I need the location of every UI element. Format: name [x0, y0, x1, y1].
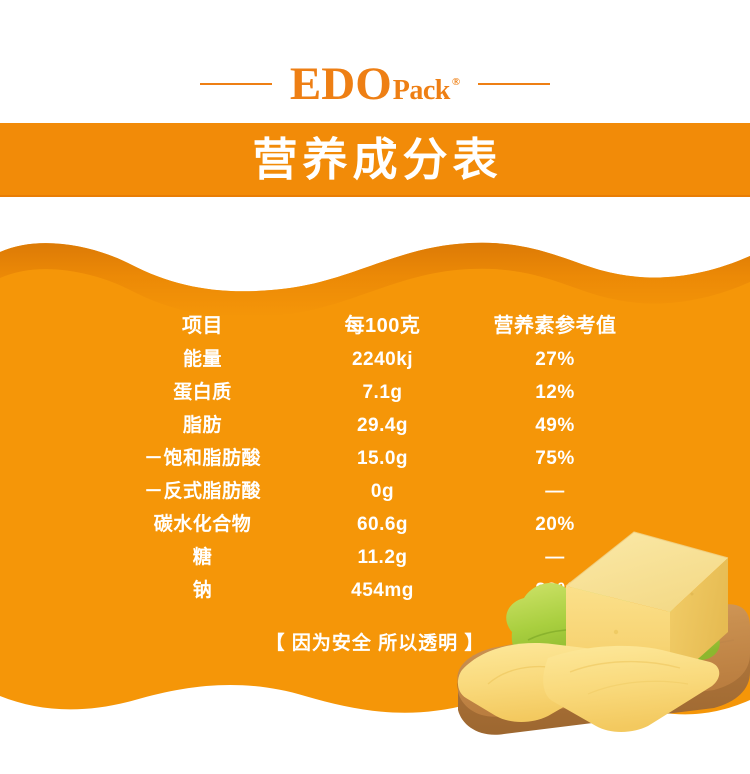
logo-edo-text: EDO [290, 61, 392, 108]
row-item-value: 60.6g [295, 508, 470, 541]
row-item-label: －饱和脂肪酸 [110, 442, 295, 475]
logo-wordmark: EDO Pack ® [290, 61, 460, 108]
row-item-value: 0g [295, 475, 470, 508]
logo-rule-right [478, 83, 550, 85]
row-item-nrv: 12% [470, 376, 640, 409]
title-banner: 营养成分表 [0, 123, 750, 197]
header-value: 每100克 [295, 310, 470, 343]
row-item-nrv: 75% [470, 442, 640, 475]
row-item-label: 糖 [110, 541, 295, 574]
logo-pack-text: Pack [393, 77, 450, 105]
cheese-product-photo [448, 520, 750, 745]
page-title: 营养成分表 [247, 137, 502, 182]
header-item: 项目 [110, 310, 295, 343]
table-row: －饱和脂肪酸 15.0g 75% [110, 442, 640, 475]
row-item-label: －反式脂肪酸 [110, 475, 295, 508]
table-row: 蛋白质 7.1g 12% [110, 376, 640, 409]
row-item-value: 29.4g [295, 409, 470, 442]
logo-rule-left [200, 83, 272, 85]
row-item-nrv: — [470, 475, 640, 508]
row-item-nrv: 49% [470, 409, 640, 442]
row-item-value: 15.0g [295, 442, 470, 475]
row-item-nrv: 27% [470, 343, 640, 376]
row-item-label: 蛋白质 [110, 376, 295, 409]
table-row: －反式脂肪酸 0g — [110, 475, 640, 508]
row-item-value: 7.1g [295, 376, 470, 409]
table-header-row: 项目 每100克 营养素参考值 [110, 310, 640, 343]
nutrition-facts-page: EDO Pack ® 营养成分表 [0, 0, 750, 774]
row-item-value: 2240kj [295, 343, 470, 376]
row-item-label: 能量 [110, 343, 295, 376]
header-nrv: 营养素参考值 [470, 310, 640, 343]
row-item-label: 钠 [110, 574, 295, 607]
table-row: 能量 2240kj 27% [110, 343, 640, 376]
table-row: 脂肪 29.4g 49% [110, 409, 640, 442]
row-item-value: 454mg [295, 574, 470, 607]
row-item-label: 碳水化合物 [110, 508, 295, 541]
registered-trademark-icon: ® [452, 77, 460, 88]
brand-logo: EDO Pack ® [0, 58, 750, 110]
row-item-label: 脂肪 [110, 409, 295, 442]
row-item-value: 11.2g [295, 541, 470, 574]
